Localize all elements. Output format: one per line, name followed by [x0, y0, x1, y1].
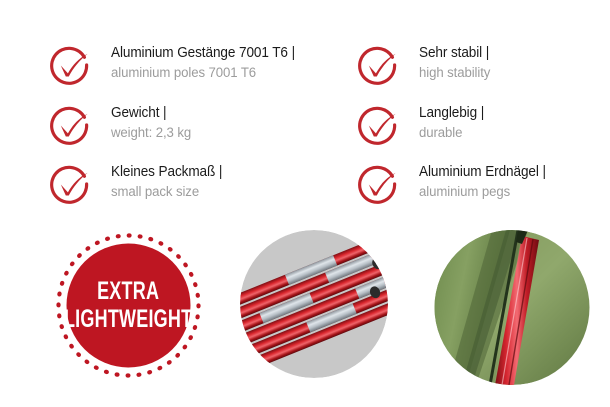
feature-title: Aluminium Erdnägel |	[419, 165, 546, 180]
media-row: EXTRA LIGHTWEIGHT	[0, 222, 610, 407]
feature-title: Sehr stabil |	[419, 46, 490, 61]
feature-subtitle: aluminium pegs	[419, 185, 546, 199]
feature-subtitle: small pack size	[111, 185, 222, 199]
feature-text: Langlebig | durable	[419, 103, 489, 140]
extra-lightweight-badge: EXTRA LIGHTWEIGHT	[51, 228, 206, 383]
check-circle-icon	[49, 44, 91, 86]
feature-item-stability: Sehr stabil | high stability	[357, 43, 610, 86]
feature-text: Aluminium Gestänge 7001 T6 | aluminium p…	[111, 43, 309, 80]
feature-text: Gewicht | weight: 2,3 kg	[111, 103, 197, 140]
feature-subtitle: durable	[419, 126, 484, 140]
feature-title: Gewicht |	[111, 106, 191, 121]
feature-item-weight: Gewicht | weight: 2,3 kg	[49, 103, 329, 146]
feature-subtitle: high stability	[419, 66, 490, 80]
dotted-circle-badge	[51, 228, 206, 383]
feature-title: Kleines Packmaß |	[111, 165, 222, 180]
aluminium-poles-photo	[240, 230, 388, 378]
check-circle-icon	[49, 104, 91, 146]
feature-subtitle: aluminium poles 7001 T6	[111, 66, 295, 80]
feature-text: Aluminium Erdnägel | aluminium pegs	[419, 162, 555, 199]
feature-title: Langlebig |	[419, 106, 484, 121]
feature-item-pack-size: Kleines Packmaß | small pack size	[49, 162, 329, 205]
feature-item-aluminium-poles: Aluminium Gestänge 7001 T6 | aluminium p…	[49, 43, 329, 86]
check-circle-icon	[357, 44, 399, 86]
feature-text: Sehr stabil | high stability	[419, 43, 496, 80]
feature-item-aluminium-pegs: Aluminium Erdnägel | aluminium pegs	[357, 162, 610, 205]
check-circle-icon	[357, 104, 399, 146]
feature-infographic: Aluminium Gestänge 7001 T6 | aluminium p…	[0, 0, 610, 407]
check-circle-icon	[49, 163, 91, 205]
tent-pole-detail-photo	[432, 230, 592, 385]
feature-list: Aluminium Gestänge 7001 T6 | aluminium p…	[0, 0, 610, 222]
feature-subtitle: weight: 2,3 kg	[111, 126, 191, 140]
feature-title: Aluminium Gestänge 7001 T6 |	[111, 46, 295, 61]
feature-item-durable: Langlebig | durable	[357, 103, 610, 146]
feature-text: Kleines Packmaß | small pack size	[111, 162, 231, 199]
check-circle-icon	[357, 163, 399, 205]
